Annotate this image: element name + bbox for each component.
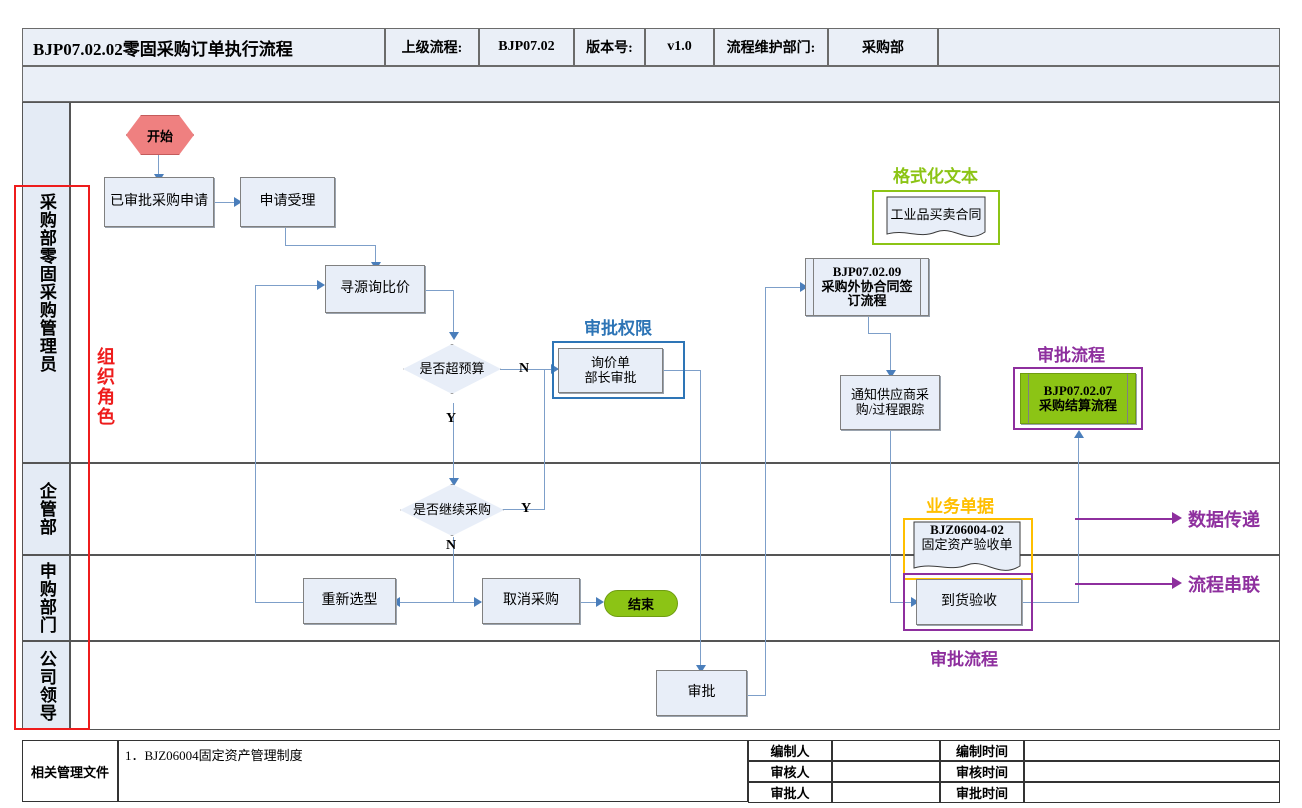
org-role-label: 组织角色 [93, 348, 119, 429]
edge-goods-up [1078, 437, 1079, 603]
doc-asset-code: BJZ06004-02 [930, 523, 1004, 538]
footer-approver-value[interactable] [832, 782, 940, 803]
doc-industrial-contract-text: 工业品买卖合同 [886, 200, 986, 230]
footer-docs-value: 1．BJZ06004固定资产管理制度 [118, 740, 748, 802]
group-approval-authority [552, 341, 685, 399]
edge-sourcing-down [453, 290, 454, 335]
node-goods-acceptance[interactable]: 到货验收 [916, 579, 1022, 625]
edge-approve-up [765, 287, 766, 696]
group-label-business-doc: 业务单据 [926, 492, 994, 517]
footer-preparer-label: 编制人 [748, 740, 832, 761]
edge-label-continue-y: Y [521, 501, 531, 517]
legend-line-process-series [1075, 583, 1173, 585]
version-value: v1.0 [645, 28, 714, 66]
edge-label-budget-n: N [519, 361, 529, 377]
footer-reviewer-label: 审核人 [748, 761, 832, 782]
edge-accept-down [285, 227, 286, 245]
footer-prepare-time-label: 编制时间 [940, 740, 1024, 761]
doc-fixed-asset-acceptance[interactable]: BJZ06004-02 固定资产验收单 [913, 521, 1021, 577]
edge-approve-right [747, 695, 765, 696]
footer-approve-time-label: 审批时间 [940, 782, 1024, 803]
edge-quote-down [700, 370, 701, 668]
owner-dept-label: 流程维护部门: [714, 28, 828, 66]
node-approved-purchase-request[interactable]: 已审批采购申请 [104, 177, 214, 227]
footer-preparer-value[interactable] [832, 740, 940, 761]
header-extra-cell [938, 28, 1280, 66]
footer-review-time-value[interactable] [1024, 761, 1280, 782]
arrowhead-reselect-sourcing [317, 280, 325, 290]
group-label-formatted-text: 格式化文本 [893, 162, 978, 187]
arrowhead-sourcing-budget [449, 332, 459, 340]
group-label-approval-process-2: 审批流程 [930, 645, 998, 670]
footer-reviewer-value[interactable] [832, 761, 940, 782]
parent-process-value: BJP07.02 [479, 28, 574, 66]
footer-approve-time-value[interactable] [1024, 782, 1280, 803]
footer-review-time-label: 审核时间 [940, 761, 1024, 782]
edge-contract-down2 [890, 333, 891, 373]
lane-body-enterprise-mgmt [70, 463, 1280, 555]
edge-contract-right [868, 333, 890, 334]
group-label-approval-authority: 审批权限 [584, 314, 652, 339]
header-spacer-strip [22, 66, 1280, 102]
node-sourcing-quotation[interactable]: 寻源询比价 [325, 265, 425, 313]
edge-label-continue-n: N [446, 538, 456, 554]
node-contract-signing-process[interactable]: BJP07.02.09 采购外协合同签订流程 [805, 258, 929, 316]
group-label-approval-process-1: 审批流程 [1037, 341, 1105, 366]
org-role-highlight-box [14, 185, 90, 730]
node-approve[interactable]: 审批 [656, 670, 747, 716]
arrowhead-continue-cancel [474, 597, 482, 607]
edge-notify-down [890, 430, 891, 602]
node-settlement-process[interactable]: BJP07.02.07 采购结算流程 [1020, 373, 1136, 424]
legend-label-data-transfer: 数据传递 [1188, 506, 1260, 532]
decision-over-budget-text: 是否超预算 [403, 344, 501, 394]
legend-line-data-transfer [1075, 518, 1173, 520]
footer-prepare-time-value[interactable] [1024, 740, 1280, 761]
edge-approve-to-contract [765, 287, 805, 288]
edge-reselect-to-sourcing [255, 285, 323, 286]
edge-continue-n-left [396, 602, 454, 603]
legend-arrow-data-transfer [1172, 512, 1182, 524]
decision-continue-purchase-text: 是否继续采购 [400, 484, 504, 536]
legend-label-process-series: 流程串联 [1188, 571, 1260, 597]
legend-arrow-process-series [1172, 577, 1182, 589]
end-terminator[interactable]: 结束 [604, 590, 678, 617]
arrowhead-cancel-end [596, 597, 604, 607]
process-title: BJP07.02.02零固采购订单执行流程 [22, 28, 385, 66]
flowchart-page: BJP07.02.02零固采购订单执行流程 上级流程: BJP07.02 版本号… [0, 0, 1302, 808]
node-accept-request[interactable]: 申请受理 [240, 177, 335, 227]
footer-approver-label: 审批人 [748, 782, 832, 803]
node-cancel-purchase[interactable]: 取消采购 [482, 578, 580, 624]
parent-process-label: 上级流程: [385, 28, 479, 66]
edge-label-budget-y: Y [446, 411, 456, 427]
doc-asset-name: 固定资产验收单 [921, 538, 1012, 553]
decision-over-budget[interactable]: 是否超预算 [403, 344, 501, 394]
version-label: 版本号: [574, 28, 645, 66]
footer-docs-label: 相关管理文件 [22, 740, 118, 802]
arrowhead-goods-settlement [1074, 430, 1084, 438]
doc-industrial-contract[interactable]: 工业品买卖合同 [886, 196, 986, 241]
owner-dept-value: 采购部 [828, 28, 938, 66]
edge-continue-y-up [544, 369, 545, 510]
edge-reselect-up [255, 285, 256, 603]
edge-contract-down1 [868, 316, 869, 333]
edge-reselect-left [255, 602, 303, 603]
edge-accept-right [285, 245, 375, 246]
node-reselect[interactable]: 重新选型 [303, 578, 396, 624]
edge-sourcing-right [425, 290, 453, 291]
node-notify-supplier[interactable]: 通知供应商采购/过程跟踪 [840, 375, 940, 430]
decision-continue-purchase[interactable]: 是否继续采购 [400, 484, 504, 536]
